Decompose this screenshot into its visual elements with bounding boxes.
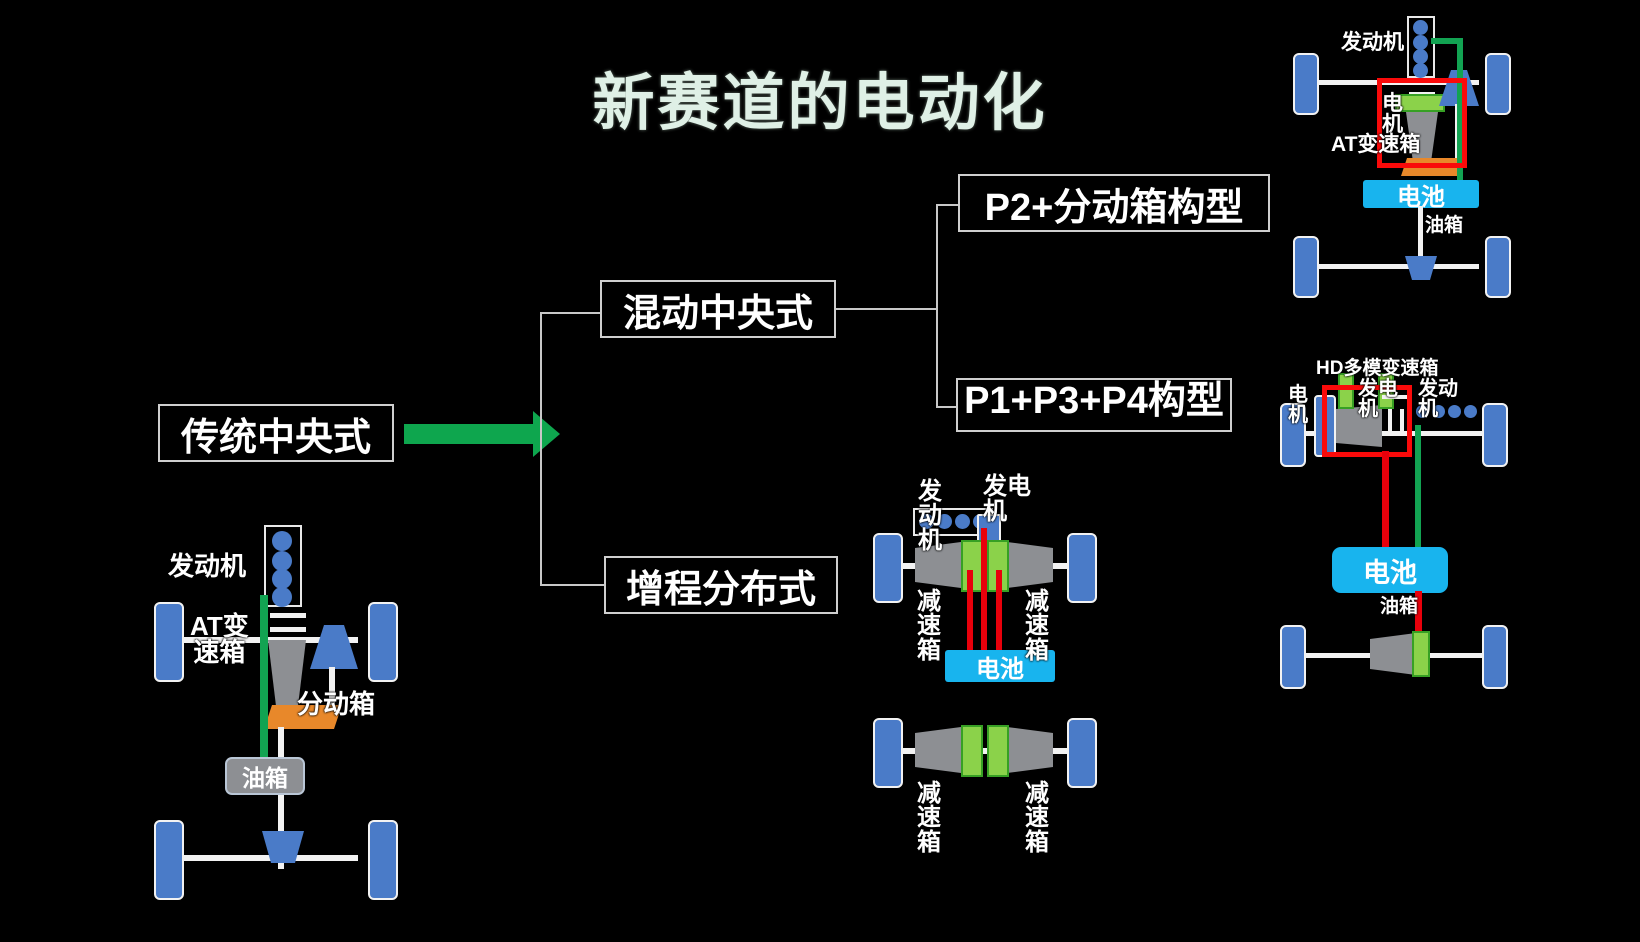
rear-left-wheel xyxy=(1280,625,1306,689)
front-right-wheel xyxy=(1482,403,1508,467)
diagram-p2-transfer-case: 电池 发动机 电机 AT变速箱 油箱 xyxy=(1285,8,1525,298)
flow-arrow-green xyxy=(404,424,534,444)
diagram-range-extender-distributed: 电池 发动机 发电机 减速箱 减速箱 减速箱 减速箱 xyxy=(865,470,1105,870)
engine-cylinder xyxy=(272,587,292,607)
flow-bracket-main-vertical xyxy=(540,312,542,586)
label-fuel-tank: 油箱 xyxy=(1380,597,1418,616)
front-left-wheel xyxy=(873,533,903,603)
rear-differential-shape xyxy=(262,831,304,865)
flow-bracket-sub-vertical xyxy=(936,204,938,408)
rear-reducer-shape xyxy=(1370,633,1418,677)
battery: 电池 xyxy=(1332,547,1448,593)
flow-node-traditional-central[interactable]: 传统中央式 xyxy=(158,404,394,462)
slide-canvas: 新赛道的电动化 传统中央式 混动中央式 增程分布式 P2+分动箱构型 P1+P3… xyxy=(0,0,1640,942)
label-generator: 发电机 xyxy=(1358,379,1402,420)
label-motor: 电机 xyxy=(1382,93,1405,136)
front-right-wheel xyxy=(1067,533,1097,603)
label-reducer-front-right: 减速箱 xyxy=(1025,590,1051,663)
label-generator: 发电机 xyxy=(983,474,1036,524)
engine-cylinder xyxy=(955,514,970,529)
rear-left-motor xyxy=(961,725,983,777)
fuel-tank: 油箱 xyxy=(225,757,305,795)
flow-node-p2-transfer[interactable]: P2+分动箱构型 xyxy=(958,174,1270,232)
flow-connector-hybrid xyxy=(836,308,938,310)
rear-right-motor xyxy=(987,725,1009,777)
label-engine: 发动机 xyxy=(918,480,944,553)
flow-bracket-main-bottom xyxy=(540,584,604,586)
diagram-traditional-central: 油箱 发动机 AT变 速箱 分动箱 xyxy=(140,495,420,895)
rear-right-wheel xyxy=(1485,236,1511,298)
fuel-line xyxy=(260,595,268,775)
flow-bracket-sub-top xyxy=(936,204,960,206)
engine-cylinder xyxy=(272,531,292,551)
label-reducer-rear-right: 减速箱 xyxy=(1025,782,1051,855)
label-fuel-tank: 油箱 xyxy=(1425,216,1463,235)
label-at-gearbox: AT变 速箱 xyxy=(190,613,249,665)
flow-node-p1p3p4[interactable]: P1+P3+P4构型 xyxy=(956,378,1232,432)
label-engine: 发动机 xyxy=(1341,32,1404,53)
label-motor: 电机 xyxy=(1288,385,1310,426)
engine-cylinder xyxy=(272,569,292,589)
engine-cylinder xyxy=(1413,35,1428,50)
fuel-line-top xyxy=(1431,38,1461,44)
label-engine: 发动机 xyxy=(1418,379,1462,420)
flow-node-hybrid-central[interactable]: 混动中央式 xyxy=(600,280,836,338)
front-right-reducer-shape xyxy=(1005,542,1053,590)
diagram-p1p3p4: 电池 HD多模变速箱 电机 发电机 发动机 油箱 xyxy=(1270,355,1520,695)
transfer-case-shape xyxy=(308,625,360,671)
label-at-gearbox: AT变速箱 xyxy=(1331,134,1420,155)
label-transfer-case: 分动箱 xyxy=(297,691,375,717)
rear-right-reducer-shape xyxy=(1005,727,1053,775)
clutch-plate xyxy=(270,627,306,632)
front-left-wheel xyxy=(154,602,184,682)
engine-cylinder xyxy=(1413,20,1428,35)
rear-left-reducer-shape xyxy=(915,727,963,775)
rear-right-wheel xyxy=(1482,625,1508,689)
clutch-plate xyxy=(270,613,306,618)
rear-left-wheel xyxy=(1293,236,1319,298)
front-right-wheel xyxy=(1485,53,1511,115)
rear-axle xyxy=(1309,264,1479,269)
rear-left-wheel xyxy=(873,718,903,788)
rear-right-wheel xyxy=(1067,718,1097,788)
engine-cylinder xyxy=(1413,63,1428,78)
flow-bracket-main-top xyxy=(540,312,600,314)
engine-cylinder xyxy=(1413,49,1428,64)
rear-motor xyxy=(1412,631,1430,677)
rear-right-wheel xyxy=(368,820,398,900)
rear-left-wheel xyxy=(154,820,184,900)
label-reducer-rear-left: 减速箱 xyxy=(917,782,943,855)
front-left-wheel xyxy=(1293,53,1319,115)
label-engine: 发动机 xyxy=(168,553,246,579)
label-hd-multimode-gearbox: HD多模变速箱 xyxy=(1316,359,1446,379)
front-right-wheel xyxy=(368,602,398,682)
flow-node-range-extender[interactable]: 增程分布式 xyxy=(604,556,838,614)
label-reducer-front-left: 减速箱 xyxy=(917,590,943,663)
battery: 电池 xyxy=(1363,180,1479,208)
rear-differential-shape xyxy=(1405,256,1437,282)
engine-cylinder xyxy=(272,551,292,571)
engine-cylinder xyxy=(1464,405,1477,418)
